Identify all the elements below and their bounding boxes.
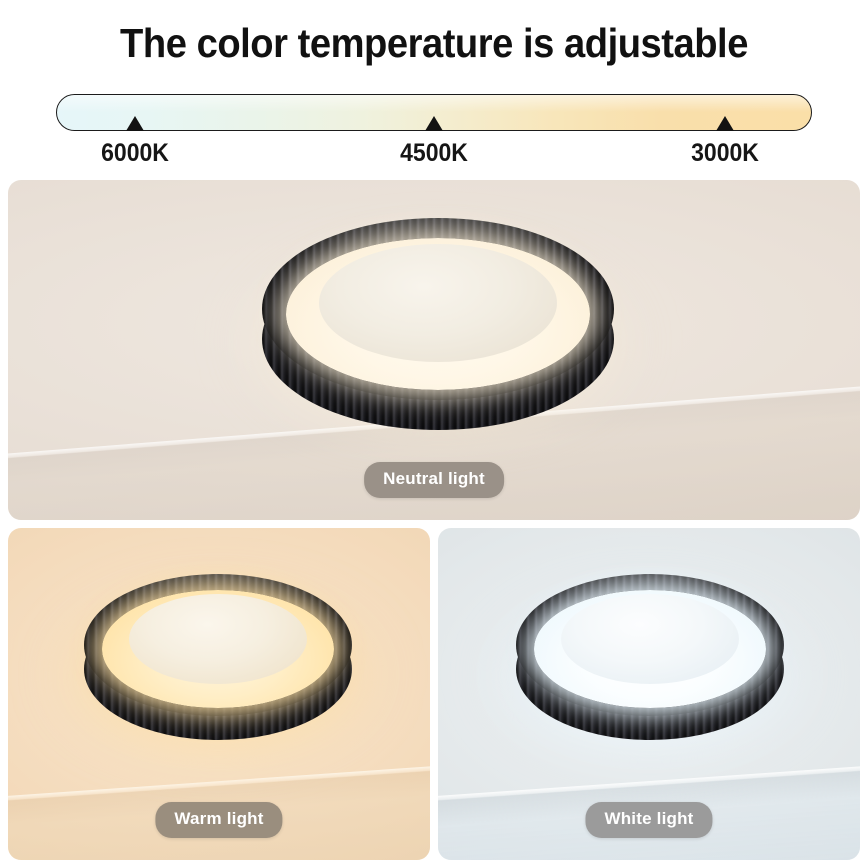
ceiling-lamp-warm xyxy=(84,574,352,716)
lamp-diffuser-dome-white xyxy=(561,594,739,684)
scale-marker-4500k xyxy=(425,116,443,131)
photo-panel-neutral-light: Neutral light xyxy=(8,180,860,520)
photo-panel-white-light: White light xyxy=(438,528,860,860)
color-temperature-scale: 6000K 4500K 3000K xyxy=(56,94,812,170)
badge-warm-light: Warm light xyxy=(155,802,282,838)
gradient-gloss-overlay xyxy=(57,95,811,112)
photo-panel-warm-light: Warm light xyxy=(8,528,430,860)
product-infographic: The color temperature is adjustable 6000… xyxy=(0,0,868,868)
lamp-diffuser-dome-neutral xyxy=(319,244,557,362)
badge-neutral-light: Neutral light xyxy=(364,462,504,498)
badge-white-light: White light xyxy=(585,802,712,838)
ceiling-lamp-neutral xyxy=(262,218,614,400)
scale-label-3000k: 3000K xyxy=(691,139,759,168)
product-photo-grid: Neutral light Warm light xyxy=(8,180,860,860)
ceiling-lamp-white xyxy=(516,574,784,716)
scale-marker-6000k xyxy=(126,116,144,131)
scale-marker-3000k xyxy=(716,116,734,131)
scale-label-4500k: 4500K xyxy=(400,139,468,168)
scale-label-6000k: 6000K xyxy=(101,139,169,168)
page-title: The color temperature is adjustable xyxy=(30,20,837,67)
lamp-diffuser-dome-warm xyxy=(129,594,307,684)
